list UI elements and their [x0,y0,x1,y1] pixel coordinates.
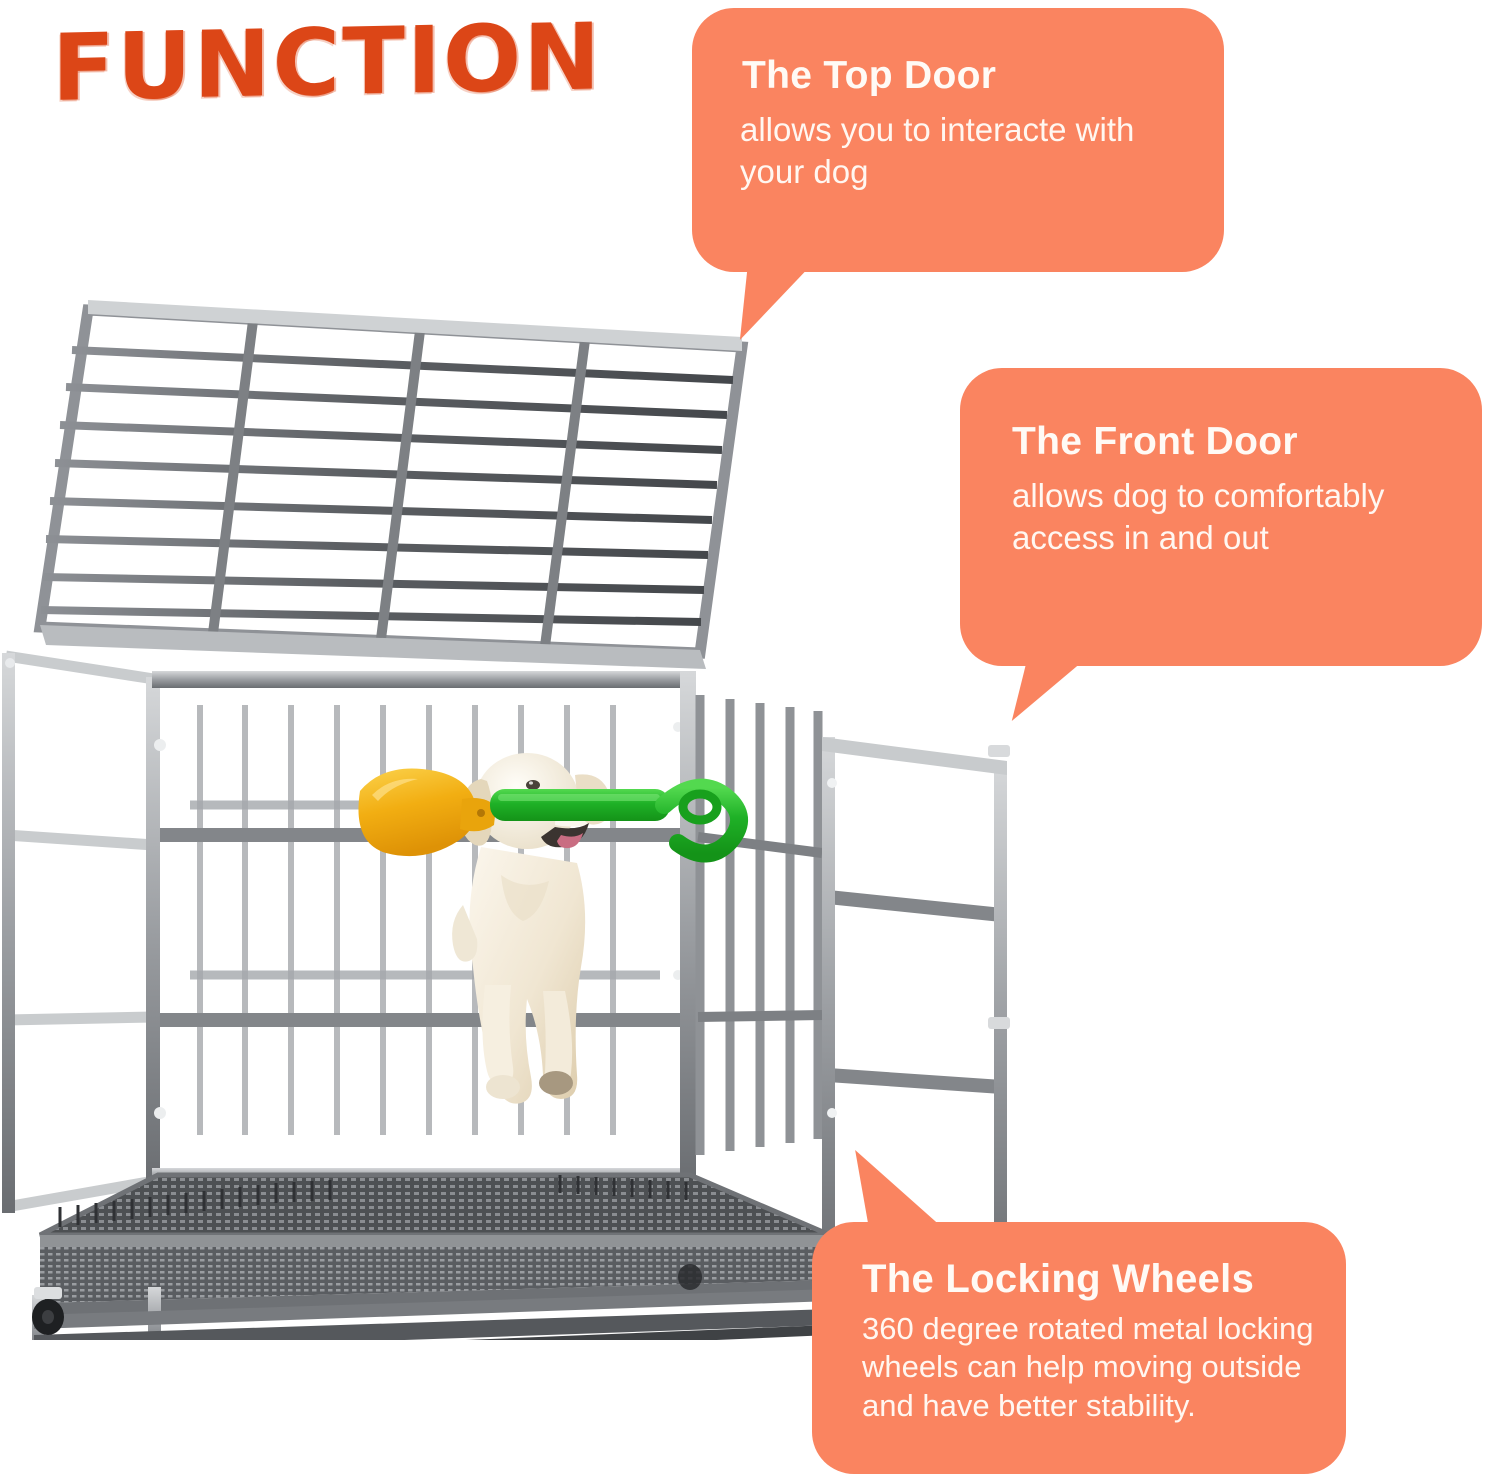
side-panel [2,653,160,1213]
callout-locking-wheels[interactable]: The Locking Wheels 360 degree rotated me… [812,1222,1346,1474]
callout-top-door-title: The Top Door [742,54,1188,99]
callout-locking-wheels-body: 360 degree rotated metal locking wheels … [862,1310,1322,1425]
callout-top-door[interactable]: The Top Door allows you to interacte wit… [692,8,1224,272]
floor-grate [40,1175,830,1235]
caster-wheel [678,1264,702,1290]
callout-front-door-body: allows dog to comfortably access in and … [1012,475,1452,559]
top-door-panel [40,300,745,669]
rear-corner-post [680,671,696,1186]
callout-front-door-title: The Front Door [1012,420,1452,465]
toy-shovel [352,755,752,875]
callout-locking-wheels-tail [855,1150,943,1228]
callout-front-door[interactable]: The Front Door allows dog to comfortably… [960,368,1482,666]
page-title: FUNCTION [52,4,612,121]
caster-wheel [32,1287,64,1335]
callout-top-door-body: allows you to interacte with your dog [740,109,1188,193]
callout-top-door-tail [740,262,814,340]
callout-locking-wheels-title: The Locking Wheels [862,1256,1322,1302]
